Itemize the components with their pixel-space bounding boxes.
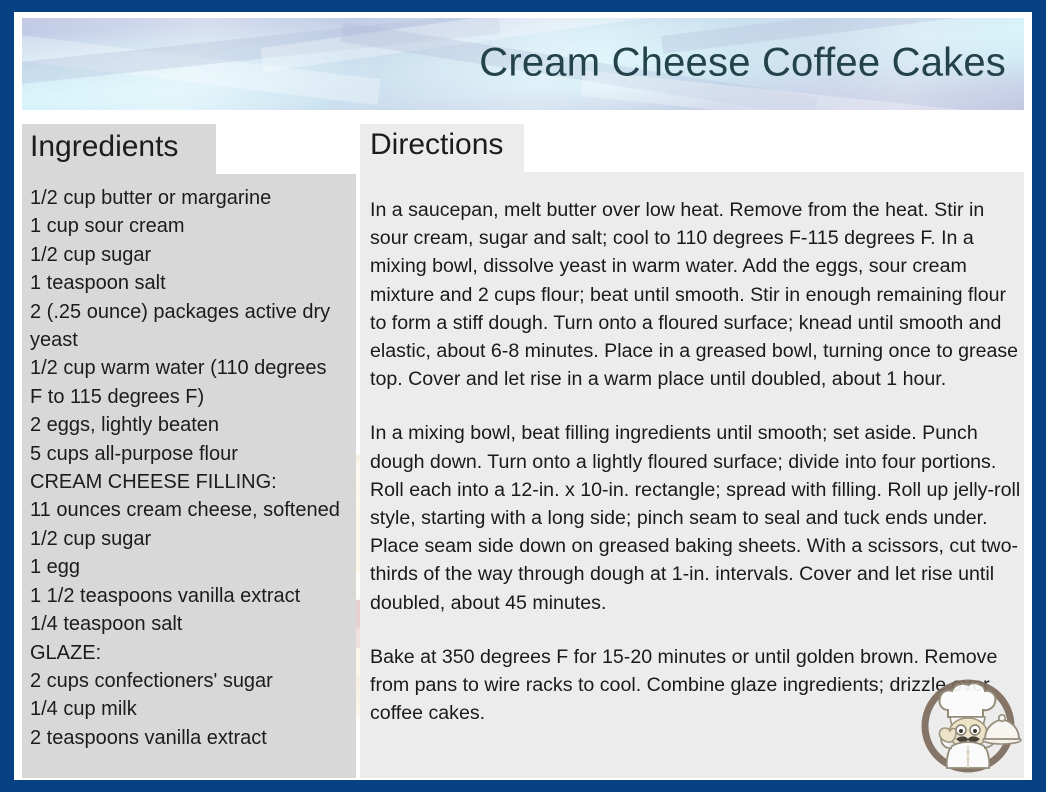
ingredient-item: 1/2 cup butter or margarine [30, 184, 344, 212]
recipe-title: Cream Cheese Coffee Cakes [479, 41, 1006, 86]
ingredient-item: 1/2 cup warm water (110 degrees F to 115… [30, 354, 344, 411]
ingredient-item: 2 teaspoons vanilla extract [30, 724, 344, 752]
ingredient-item: 11 ounces cream cheese, softened [30, 496, 344, 524]
ingredient-item: 5 cups all-purpose flour [30, 440, 344, 468]
ingredients-heading-gap [216, 124, 356, 174]
direction-paragraph: In a mixing bowl, beat filling ingredien… [370, 419, 1024, 616]
ingredient-item: 1 egg [30, 553, 344, 581]
card-inner-surface: Cream Cheese Coffee Cakes [14, 12, 1032, 780]
ingredient-item: 2 cups confectioners' sugar [30, 667, 344, 695]
chef-mascot-logo [914, 670, 1022, 774]
directions-heading: Directions [370, 128, 503, 162]
ingredient-item: CREAM CHEESE FILLING: [30, 468, 344, 496]
ingredient-item: 2 (.25 ounce) packages active dry yeast [30, 298, 344, 355]
ingredient-item: 1 teaspoon salt [30, 269, 344, 297]
ingredient-item: 1/2 cup sugar [30, 241, 344, 269]
ingredient-item: GLAZE: [30, 639, 344, 667]
ingredient-item: 1/2 cup sugar [30, 525, 344, 553]
direction-paragraph: In a saucepan, melt butter over low heat… [370, 196, 1024, 393]
title-banner: Cream Cheese Coffee Cakes [22, 18, 1024, 110]
recipe-card: Cream Cheese Coffee Cakes [0, 0, 1046, 792]
directions-body: In a saucepan, melt butter over low heat… [370, 196, 1024, 727]
ingredients-heading: Ingredients [30, 130, 178, 164]
ingredient-item: 1 1/2 teaspoons vanilla extract [30, 582, 344, 610]
ingredient-item: 1 cup sour cream [30, 212, 344, 240]
directions-heading-gap [524, 124, 1024, 172]
ingredient-item: 1/4 teaspoon salt [30, 610, 344, 638]
ingredient-item: 1/4 cup milk [30, 695, 344, 723]
ingredient-item: 2 eggs, lightly beaten [30, 411, 344, 439]
ingredients-list: 1/2 cup butter or margarine1 cup sour cr… [30, 184, 344, 752]
